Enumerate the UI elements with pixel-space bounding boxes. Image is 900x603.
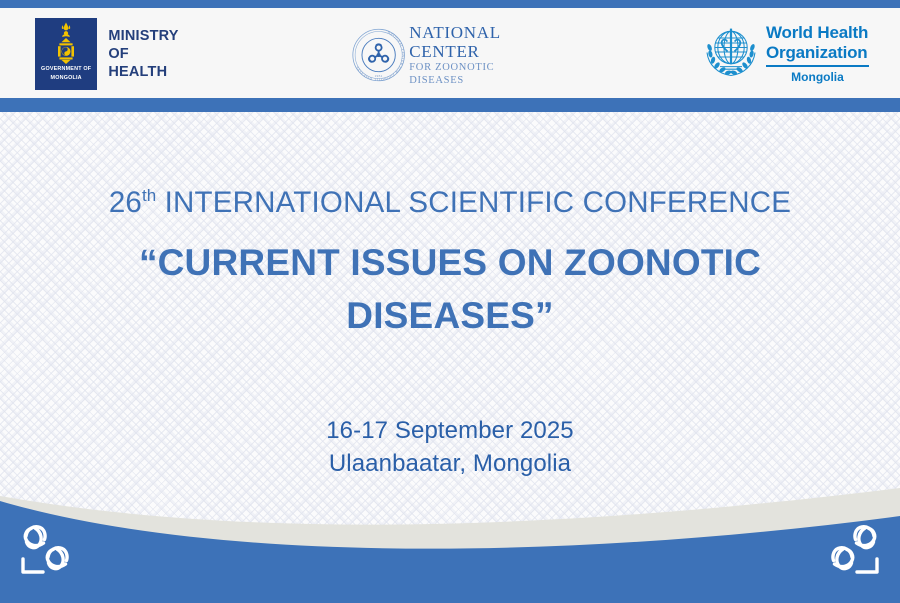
- who-country-label: Mongolia: [766, 70, 869, 84]
- conference-theme-title: “CURRENT ISSUES ON ZOONOTIC DISEASES”: [0, 236, 900, 342]
- national-center-zoonotic-diseases-logo: NATIONAL CENTER FOR ZOONOTIC DISEASES 19…: [352, 22, 552, 88]
- ministry-name: MINISTRY OF HEALTH: [108, 27, 185, 81]
- conference-edition-line: 26th INTERNATIONAL SCIENTIFIC CONFERENCE: [0, 176, 900, 223]
- conference-ordinal: 26: [109, 186, 142, 219]
- world-health-organization-logo: World Health Organization Mongolia: [702, 22, 882, 86]
- who-name-line1: World Health: [766, 23, 869, 43]
- who-name: World Health Organization Mongolia: [766, 23, 869, 84]
- conference-theme-line1: “CURRENT ISSUES ON ZOONOTIC: [0, 236, 900, 289]
- badge-text-line1: GOVERNMENT OF: [41, 66, 91, 73]
- conference-edition-rest: INTERNATIONAL SCIENTIFIC CONFERENCE: [156, 186, 791, 219]
- nczd-name-line1: NATIONAL CENTER: [409, 23, 552, 61]
- nczd-name-line2: FOR ZOONOTIC DISEASES: [409, 61, 552, 87]
- ornament-bottom-left: [18, 521, 80, 579]
- nczd-seal-icon: NATIONAL CENTER FOR ZOONOTIC DISEASES 19…: [352, 24, 405, 86]
- event-dates: 16-17 September 2025: [0, 414, 900, 447]
- conference-theme-line2: DISEASES”: [0, 289, 900, 342]
- svg-text:1931: 1931: [375, 74, 383, 78]
- bottom-wave-decoration: [0, 468, 900, 603]
- who-name-line2: Organization: [766, 43, 869, 63]
- soyombo-emblem-icon: [51, 22, 81, 64]
- who-emblem-icon: [702, 22, 760, 80]
- mongolian-knot-ornament-icon: [820, 521, 882, 579]
- conference-title-slide: GOVERNMENT OF MONGOLIA MINISTRY OF HEALT…: [0, 0, 900, 603]
- who-underline-rule: [766, 65, 869, 67]
- ministry-name-line1: MINISTRY: [108, 27, 185, 45]
- conference-title-block: 26th INTERNATIONAL SCIENTIFIC CONFERENCE…: [0, 176, 900, 342]
- mongolian-knot-ornament-icon: [18, 521, 80, 579]
- ornament-bottom-right: [820, 521, 882, 579]
- top-accent-bar: [0, 0, 900, 8]
- ministry-of-health-logo: GOVERNMENT OF MONGOLIA MINISTRY OF HEALT…: [35, 17, 185, 90]
- conference-ordinal-suffix: th: [142, 186, 156, 205]
- ministry-name-line2: OF HEALTH: [108, 45, 185, 81]
- nczd-name: NATIONAL CENTER FOR ZOONOTIC DISEASES: [409, 23, 552, 87]
- government-of-mongolia-badge: GOVERNMENT OF MONGOLIA: [35, 18, 97, 90]
- badge-text-line2: MONGOLIA: [51, 75, 82, 82]
- header-divider-bar: [0, 98, 900, 112]
